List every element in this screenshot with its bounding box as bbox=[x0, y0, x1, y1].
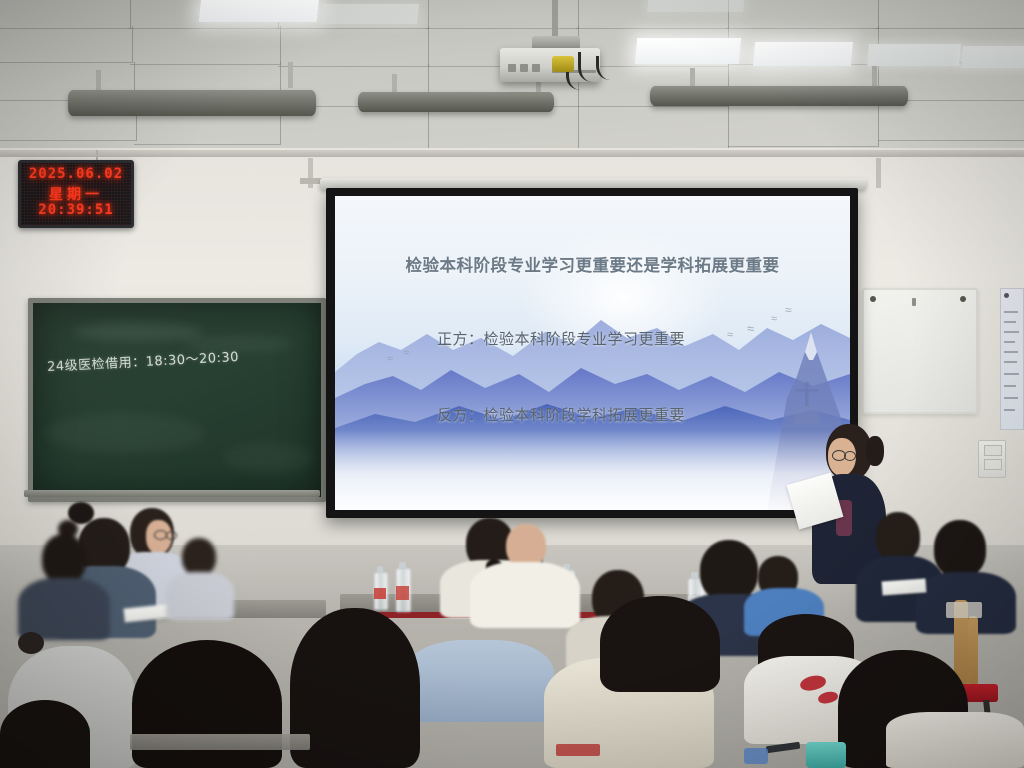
projection-screen: ≈ ≈ ≈ ≈ ≈ ≈ ≈ 检验本科阶段专业学习更重要还是学科拓展更重要 正方：… bbox=[335, 196, 850, 510]
hanging-light-fixture bbox=[650, 86, 908, 106]
hanging-light-fixture bbox=[358, 92, 554, 112]
slide-negative-line: 反方：检验本科阶段学科拓展更重要 bbox=[437, 404, 685, 425]
clock-time: 20:39:51 bbox=[21, 202, 131, 218]
wall-switch-panel[interactable] bbox=[978, 440, 1006, 478]
clock-weekday: 星期一 bbox=[21, 184, 131, 204]
bird-icon: ≈ bbox=[771, 314, 777, 325]
slide-title: 检验本科阶段专业学习更重要还是学科拓展更重要 bbox=[335, 252, 850, 276]
ceiling-light bbox=[647, 0, 745, 12]
chalk-tray bbox=[24, 490, 320, 497]
bird-icon: ≈ bbox=[727, 330, 733, 341]
desk-row-front bbox=[130, 734, 310, 750]
hanging-light-fixture bbox=[68, 90, 316, 116]
blackboard-chalk-note: 24级医检借用：18:30～20:30 bbox=[47, 346, 240, 375]
ponytail bbox=[866, 436, 884, 466]
ceiling-light bbox=[199, 0, 320, 22]
blackboard: 24级医检借用：18:30～20:30 bbox=[28, 298, 326, 502]
wall-whiteboard bbox=[862, 288, 978, 414]
ceiling-light bbox=[867, 44, 961, 66]
teal-cup bbox=[806, 742, 846, 768]
bird-icon: ≈ bbox=[747, 322, 754, 335]
projector-lens bbox=[552, 56, 574, 72]
wall-info-panel bbox=[1000, 288, 1024, 430]
slide-affirmative-line: 正方：检验本科阶段专业学习更重要 bbox=[437, 328, 685, 349]
bird-icon: ≈ bbox=[387, 354, 393, 365]
clock-date: 2025.06.02 bbox=[21, 166, 131, 182]
led-clock-display: 2025.06.02 星期一 20:39:51 bbox=[18, 160, 134, 228]
ceiling-light bbox=[635, 38, 741, 64]
wall-trim bbox=[0, 150, 1024, 157]
ceiling-light bbox=[753, 42, 853, 66]
ceiling-light bbox=[321, 4, 419, 24]
ceiling-light bbox=[961, 46, 1024, 68]
bird-icon: ≈ bbox=[403, 348, 409, 359]
bird-icon: ≈ bbox=[785, 304, 792, 316]
classroom-photo: 2025.06.02 星期一 20:39:51 24级医检借用：18:30～20… bbox=[0, 0, 1024, 768]
